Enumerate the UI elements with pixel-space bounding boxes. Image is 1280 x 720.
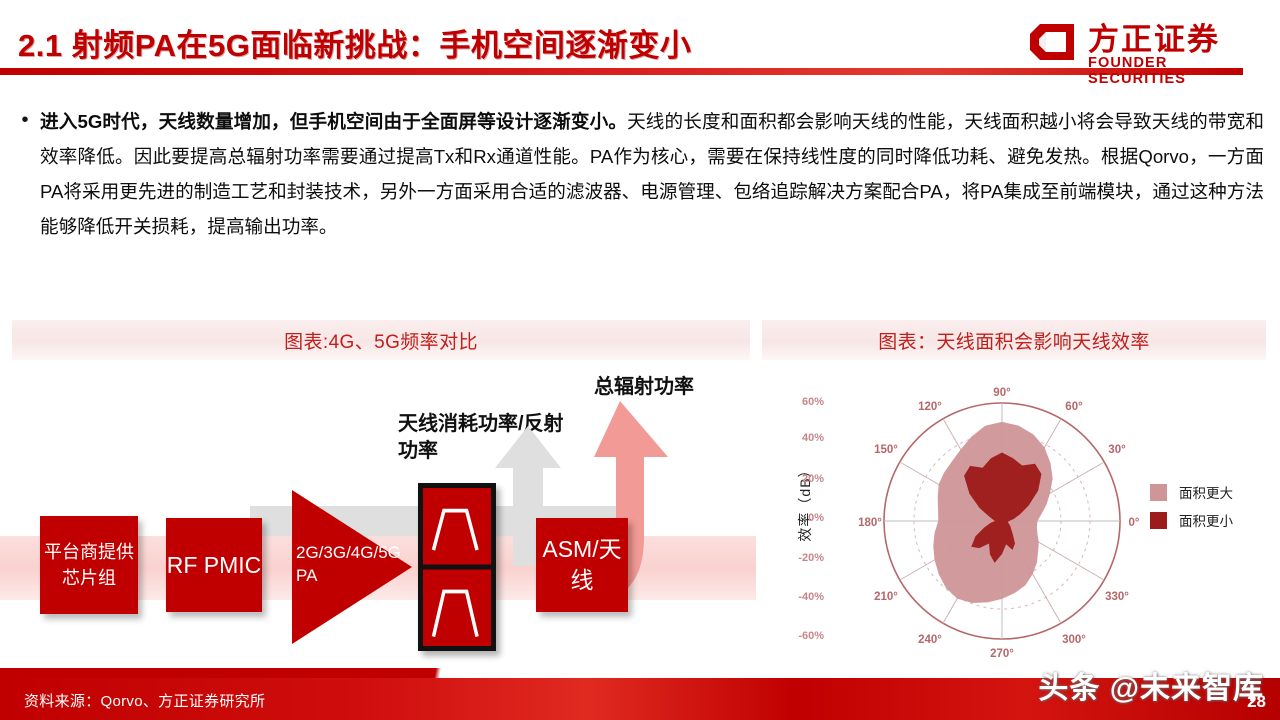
angular-tick-60: 60° xyxy=(1065,401,1083,413)
founder-square-mark-icon xyxy=(1028,20,1080,68)
angular-tick-90: 90° xyxy=(993,387,1011,399)
angular-tick-210: 210° xyxy=(874,591,898,603)
logo-chinese-name: 方正证券 xyxy=(1088,14,1220,59)
slide-header: 2.1 射频PA在5G面临新挑战：手机空间逐渐变小 方正证券 FOUNDER S… xyxy=(0,0,1280,88)
bullet-glyph: • xyxy=(18,110,32,130)
filter-divider xyxy=(423,565,491,570)
angular-tick-120: 120° xyxy=(918,401,942,413)
angular-tick-330: 330° xyxy=(1105,591,1129,603)
angular-tick-240: 240° xyxy=(918,634,942,646)
legend-swatch-small-area xyxy=(1150,512,1167,529)
angular-tick-180: 180° xyxy=(858,517,882,529)
polar-chart-ylabel: 效率（dB） xyxy=(795,447,815,557)
block-rf-pmic: RF PMIC xyxy=(166,518,262,612)
polar-chart-legend: 面积更大 面积更小 xyxy=(1150,482,1233,538)
angular-tick-270: 270° xyxy=(990,648,1014,660)
angular-tick-0: 0° xyxy=(1129,517,1140,529)
body-lead-sentence: 进入5G时代，天线数量增加，但手机空间由于全面屏等设计逐渐变小。 xyxy=(40,111,627,132)
body-paragraph-block: • 进入5G时代，天线数量增加，但手机空间由于全面屏等设计逐渐变小。天线的长度和… xyxy=(18,104,1264,244)
page-number: 28 xyxy=(1247,692,1266,712)
slide-root: 2.1 射频PA在5G面临新挑战：手机空间逐渐变小 方正证券 FOUNDER S… xyxy=(0,0,1280,720)
radial-tick-2: 20% xyxy=(782,473,824,485)
radial-tick-5: -40% xyxy=(782,591,824,603)
watermark: 头条 @未来智库 xyxy=(1038,663,1264,707)
block-pa-label: 2G/3G/4G/5G PA xyxy=(296,541,382,587)
block-pa-amplifier: 2G/3G/4G/5G PA xyxy=(288,486,416,648)
left-chart-caption: 图表:4G、5G频率对比 xyxy=(284,327,478,354)
angular-tick-300: 300° xyxy=(1062,634,1086,646)
total-radiated-power-label: 总辐射功率 xyxy=(594,374,784,401)
left-chart-caption-bar: 图表:4G、5G频率对比 xyxy=(12,320,750,360)
right-chart-caption: 图表：天线面积会影响天线效率 xyxy=(878,327,1150,354)
right-chart-caption-bar: 图表：天线面积会影响天线效率 xyxy=(762,320,1266,360)
angular-tick-30: 30° xyxy=(1108,444,1126,456)
radial-tick-1: 40% xyxy=(782,432,824,444)
block-filter-duplexer xyxy=(418,483,496,651)
logo-english-name: FOUNDER SECURITIES xyxy=(1088,55,1266,87)
legend-label-small-area: 面积更小 xyxy=(1179,510,1233,530)
antenna-efficiency-polar-chart: 效率（dB） 60% 40% 20% 0% -20% -40% -60% xyxy=(762,374,1268,666)
legend-item-large-area: 面积更大 xyxy=(1150,482,1233,502)
radial-tick-0: 60% xyxy=(782,396,824,408)
block-platform-chipset: 平台商提供芯片组 xyxy=(40,516,138,614)
company-logo: 方正证券 FOUNDER SECURITIES xyxy=(1026,14,1266,76)
radial-tick-6: -60% xyxy=(782,630,824,642)
legend-swatch-large-area xyxy=(1150,484,1167,501)
rf-frontend-block-diagram: 天线消耗功率/反射功率 总辐射功率 平台商提供芯片组 RF PMIC 2G/3G… xyxy=(0,366,756,666)
radial-tick-3: 0% xyxy=(782,512,824,524)
source-note: 资料来源：Qorvo、方正证券研究所 xyxy=(24,690,265,711)
angular-tick-150: 150° xyxy=(874,444,898,456)
radial-tick-4: -20% xyxy=(782,552,824,564)
legend-label-large-area: 面积更大 xyxy=(1179,482,1233,502)
polar-plot-svg: 0° 30° 60° 90° 120° 150° 180° 210° 240° … xyxy=(852,376,1152,666)
block-asm-antenna: ASM/天线 xyxy=(536,518,628,612)
body-paragraph: 进入5G时代，天线数量增加，但手机空间由于全面屏等设计逐渐变小。天线的长度和面积… xyxy=(40,104,1264,244)
page-title: 2.1 射频PA在5G面临新挑战：手机空间逐渐变小 xyxy=(18,20,691,65)
legend-item-small-area: 面积更小 xyxy=(1150,510,1233,530)
